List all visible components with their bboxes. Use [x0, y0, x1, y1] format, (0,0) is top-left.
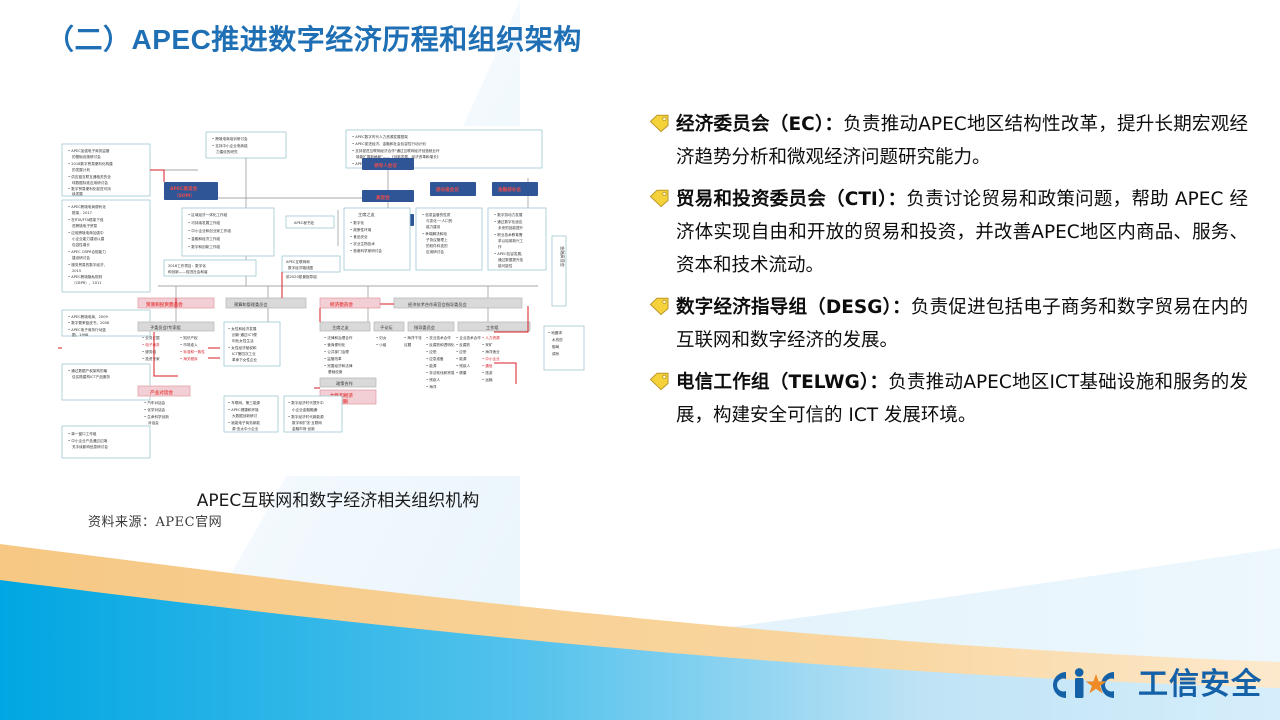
svg-text:的发展计划: 的发展计划 — [72, 167, 90, 172]
svg-text:与变化·一人口的: 与变化·一人口的 — [426, 218, 453, 223]
figure-caption: APEC互联网和数字经济相关组织机构 — [58, 486, 618, 511]
tag-icon — [648, 188, 670, 208]
svg-text:APEC互联网和: APEC互联网和 — [286, 259, 310, 264]
svg-text:• 法律和治理合作: • 法律和治理合作 — [324, 335, 353, 340]
list-item: 经济委员会（EC）：负责推动APEC地区结构性改革，提升长期宏观经济趋势分析和微… — [648, 108, 1248, 174]
svg-text:作: 作 — [498, 244, 502, 249]
svg-text:建设研讨会: 建设研讨会 — [72, 255, 90, 260]
tag-icon — [648, 113, 670, 133]
svg-text:进跨境电子贸易: 进跨境电子贸易 — [72, 223, 98, 228]
svg-text:• 2018数字贸易便利化构建: • 2018数字贸易便利化构建 — [68, 161, 113, 166]
svg-text:和创新——促进社会和谐: 和创新——促进社会和谐 — [168, 269, 208, 274]
svg-text:预算和管理委员会: 预算和管理委员会 — [234, 301, 268, 308]
svg-text:2018工作项目：数字化: 2018工作项目：数字化 — [168, 263, 206, 268]
svg-text:• 地震求: • 地震求 — [548, 330, 562, 335]
svg-text:• 应急准备: • 应急准备 — [426, 356, 444, 361]
svg-text:通过数据提升技: 通过数据提升技 — [498, 257, 524, 262]
svg-text:主席之友: 主席之友 — [358, 211, 375, 218]
svg-text:应用研讨会: 应用研讨会 — [426, 249, 444, 254]
svg-text:• 海关程序: • 海关程序 — [180, 356, 198, 361]
svg-text:• 跨境电商培训研讨会: • 跨境电商培训研讨会 — [212, 136, 248, 141]
svg-text:• 知识产权: • 知识产权 — [180, 335, 198, 340]
org-chart-canvas: .bx{fill:#ffffff;stroke:#9fc9d4;stroke-w… — [58, 126, 618, 476]
svg-text:求以培育新兴工: 求以培育新兴工 — [498, 238, 524, 243]
svg-text:• 生命科学创新: • 生命科学创新 — [144, 414, 169, 419]
svg-text:• 通过数据产权架构的最: • 通过数据产权架构的最 — [68, 368, 108, 373]
page-title-text: （二）APEC推进数字经济历程和组织架构 — [46, 18, 906, 62]
svg-text:子协议管理上: 子协议管理上 — [426, 237, 448, 242]
svg-text:经济委员会: 经济委员会 — [330, 301, 353, 308]
svg-text:政策合作: 政策合作 — [336, 380, 354, 387]
svg-text:• APEC CBPR合规能力: • APEC CBPR合规能力 — [68, 249, 106, 254]
cic-logo-icon — [1044, 664, 1136, 706]
svg-text:• 数字经济时代提升中: • 数字经济时代提升中 — [288, 400, 324, 405]
svg-text:主席之友: 主席之友 — [332, 324, 349, 331]
svg-text:• 赋能电子商务新能: • 赋能电子商务新能 — [228, 420, 260, 425]
brand-logo: 工信安全 — [1044, 664, 1262, 706]
svg-text:• APEC跨境电商便利化: • APEC跨境电商便利化 — [68, 204, 106, 209]
svg-text:• 运输: • 运输 — [482, 377, 493, 382]
svg-text:• 车联网、第三能源: • 车联网、第三能源 — [228, 400, 260, 405]
svg-text:• APEC包容发展、: • APEC包容发展、 — [494, 251, 525, 256]
svg-text:领导人会议: 领导人会议 — [374, 162, 397, 169]
svg-text:革命下女性企业: 革命下女性企业 — [232, 357, 258, 362]
svg-text:• 旅游: • 旅游 — [482, 370, 493, 375]
svg-text:（SOM）: （SOM） — [174, 193, 195, 199]
svg-text:• 通过数字化适应: • 通过数字化适应 — [494, 219, 523, 224]
svg-text:金融部长会: 金融部长会 — [497, 186, 521, 193]
svg-text:佳实践建构ICT产品服务: 佳实践建构ICT产品服务 — [72, 374, 111, 379]
list-item-term: 电信工作组（TELWG）： — [676, 372, 888, 393]
svg-text:议题: 议题 — [404, 342, 412, 347]
svg-text:• 人力资源: • 人力资源 — [482, 335, 500, 340]
svg-text:御局: 御局 — [552, 344, 560, 349]
svg-text:• 企业技术合作: • 企业技术合作 — [456, 335, 481, 340]
svg-text:• 投资专家: • 投资专家 — [142, 356, 160, 361]
svg-text:水的防: 水的防 — [552, 337, 563, 342]
svg-text:调系: 调系 — [552, 351, 560, 356]
svg-text:的软件科技的: 的软件科技的 — [426, 243, 448, 248]
svg-text:• 女性和经济发展: • 女性和经济发展 — [228, 326, 257, 331]
svg-text:数字经济路线图: 数字经济路线图 — [288, 265, 314, 270]
svg-text:• 可持续发展工作组: • 可持续发展工作组 — [188, 220, 220, 225]
svg-text:• 中小企业: • 中小企业 — [482, 356, 500, 361]
svg-text:• 数字化: • 数字化 — [350, 220, 364, 225]
svg-text:• 通信: • 通信 — [482, 363, 493, 368]
svg-text:• APEC数字时代人力资源发展框架: • APEC数字时代人力资源发展框架 — [352, 134, 408, 139]
svg-text:续发展: 续发展 — [72, 191, 83, 196]
svg-text:• 完善经济和法律: • 完善经济和法律 — [324, 363, 353, 368]
svg-text:• 反腐败和透明化: • 反腐败和透明化 — [426, 342, 455, 347]
svg-text:• 区域经济一体化工作组: • 区域经济一体化工作组 — [188, 212, 228, 217]
svg-text:框架，2017: 框架，2017 — [72, 210, 92, 215]
list-item: 电信工作组（TELWG）：负责推动APEC地区ICT基础设施和服务的发展，构建安… — [648, 366, 1248, 432]
svg-text:• 残疾人: • 残疾人 — [456, 363, 470, 368]
svg-text:• 职业技术教育需: • 职业技术教育需 — [494, 232, 523, 237]
svg-text:• 首席科学家研讨会: • 首席科学家研讨会 — [350, 248, 382, 253]
svg-text:• 争端解决和电: • 争端解决和电 — [422, 231, 447, 236]
svg-text:（CBPR），2011: （CBPR），2011 — [72, 280, 102, 285]
list-item-text: 电信工作组（TELWG）：负责推动APEC地区ICT基础设施和服务的发展，构建安… — [676, 366, 1248, 432]
svg-text:• 食品安全: • 食品安全 — [350, 234, 368, 239]
svg-text:• 农业技术合作: • 农业技术合作 — [426, 335, 451, 340]
slide-root: （二）APEC推进数字经济历程和组织架构 .bx{fill:#ffffff;st… — [0, 0, 1280, 720]
svg-text:2015: 2015 — [72, 269, 81, 273]
svg-text:APEC高官会: APEC高官会 — [170, 185, 198, 192]
svg-text:• 市场准入: • 市场准入 — [180, 342, 198, 347]
svg-text:经济技术合作高官会指导委员会: 经济技术合作高官会指导委员会 — [408, 301, 467, 308]
svg-text:• APEC电子商务行动蓝: • APEC电子商务行动蓝 — [68, 327, 106, 332]
svg-text:创新·通过ICT便: 创新·通过ICT便 — [232, 332, 257, 337]
svg-text:子委员会/专家组: 子委员会/专家组 — [150, 324, 181, 331]
svg-text:APEC秘书处: APEC秘书处 — [294, 220, 315, 225]
svg-text:• 采矿: • 采矿 — [482, 342, 493, 347]
svg-text:• 能源: • 能源 — [426, 363, 437, 368]
svg-text:基础设施: 基础设施 — [328, 369, 343, 374]
svg-text:小企业能力建设以建: 小企业能力建设以建 — [72, 236, 105, 241]
svg-text:• 应用跨境电商加强中: • 应用跨境电商加强中 — [68, 230, 104, 235]
svg-text:• 业务正据: • 业务正据 — [142, 335, 160, 340]
bullet-list: 经济委员会（EC）：负责推动APEC地区结构性改革，提升长期宏观经济趋势分析和微… — [648, 108, 1248, 441]
tag-icon — [648, 296, 670, 316]
svg-text:• 公共部门治理: • 公共部门治理 — [324, 349, 349, 354]
svg-text:利化女性生活: 利化女性生活 — [232, 338, 254, 343]
svg-text:• APEC加强电子商务监管: • APEC加强电子商务监管 — [68, 148, 110, 153]
svg-text:• 数字经济时代新能源: • 数字经济时代新能源 — [288, 414, 324, 419]
svg-text:工作组: 工作组 — [486, 324, 499, 331]
svg-text:• 监管改革: • 监管改革 — [324, 356, 342, 361]
svg-text:• 妇女: • 妇女 — [376, 335, 387, 340]
svg-text:• 小组: • 小组 — [376, 342, 387, 347]
list-item: 数字经济指导组（DESG）：负责促进包括电子商务和数字贸易在内的互联网和数字经济… — [648, 291, 1248, 357]
svg-text:• APEC健康和环境: • APEC健康和环境 — [228, 407, 259, 412]
svg-text:• 健康: • 健康 — [456, 370, 467, 375]
svg-text:贸易和投资委员会: 贸易和投资委员会 — [146, 301, 183, 308]
svg-text:• 能源: • 能源 — [456, 356, 467, 361]
svg-text:• 应恐: • 应恐 — [426, 349, 437, 354]
tag-icon — [648, 371, 670, 391]
svg-text:未来的技能提升: 未来的技能提升 — [498, 225, 524, 230]
svg-text:源·亚太中小企业: 源·亚太中小企业 — [232, 426, 259, 431]
svg-text:• 数字和创新工作组: • 数字和创新工作组 — [188, 244, 220, 249]
svg-text:• 中小企业产品通过边境: • 中小企业产品通过边境 — [68, 438, 108, 443]
list-item-text: 经济委员会（EC）：负责推动APEC地区结构性改革，提升长期宏观经济趋势分析和微… — [676, 108, 1248, 174]
svg-text:• 非法砍伐和贸易: • 非法砍伐和贸易 — [426, 370, 455, 375]
svg-text:• 女性经济赋权和: • 女性经济赋权和 — [228, 345, 257, 350]
svg-text:小企业金融融通·: 小企业金融融通· — [292, 407, 318, 412]
svg-text:• 数字劳动力发展: • 数字劳动力发展 — [494, 212, 523, 217]
svg-text:• 供应链互联互通相关的全: • 供应链互联互通相关的全 — [68, 174, 111, 179]
list-item-term: 经济委员会（EC）： — [676, 114, 843, 135]
svg-text:金融市场·创新: 金融市场·创新 — [292, 426, 315, 431]
list-item-text: 数字经济指导组（DESG）：负责促进包括电子商务和数字贸易在内的互联网和数字经济… — [676, 291, 1248, 357]
figure-source: 资料来源：APEC官网 — [88, 511, 222, 530]
svg-text:能可能性: 能可能性 — [498, 263, 513, 268]
org-chart-figure: .bx{fill:#ffffff;stroke:#9fc9d4;stroke-w… — [58, 126, 618, 476]
svg-text:• 数字贸易便利化促进可持: • 数字贸易便利化促进可持 — [68, 186, 111, 191]
svg-text:力建设的研究: 力建设的研究 — [216, 149, 238, 154]
svg-text:• 服务贸易的数字经济，: • 服务贸易的数字经济， — [68, 262, 107, 267]
svg-text:• 海洋干流: • 海洋干流 — [404, 335, 422, 340]
svg-text:• 支持中小企业电商能: • 支持中小企业电商能 — [212, 143, 248, 148]
svg-text:数字和扩张·互联网: 数字和扩张·互联网 — [292, 420, 322, 425]
svg-text:球数据标准应用研讨会: 球数据标准应用研讨会 — [72, 180, 108, 185]
svg-text:• 金融和经济工作组: • 金融和经济工作组 — [188, 236, 220, 241]
svg-text:• 中小企业和创业家工作组: • 中小企业和创业家工作组 — [188, 228, 231, 233]
svg-text:部长级会议: 部长级会议 — [436, 186, 459, 193]
svg-text:前2020愿景指导组: 前2020愿景指导组 — [286, 274, 317, 279]
svg-text:• 残疾人: • 残疾人 — [426, 377, 440, 382]
svg-text:金融高官会: 金融高官会 — [559, 246, 566, 268]
svg-text:对话会: 对话会 — [148, 420, 159, 425]
svg-text:• 支持促进互联网经济合作"通过互联网经济创造就业环: • 支持促进互联网经济合作"通过互联网经济创造就业环 — [352, 148, 440, 153]
svg-text:图，1998: 图，1998 — [72, 333, 89, 337]
svg-text:的基础设施研讨会: 的基础设施研讨会 — [72, 154, 101, 159]
svg-text:关手续影响信息研讨会: 关手续影响信息研讨会 — [72, 444, 108, 449]
svg-text:• 海洋: • 海洋 — [426, 384, 437, 389]
svg-text:• 单一窗口工作组: • 单一窗口工作组 — [68, 431, 97, 436]
svg-text:• 农业生物技术: • 农业生物技术 — [350, 241, 375, 246]
svg-text:• 营商便利化: • 营商便利化 — [324, 342, 346, 347]
svg-text:指导委员会: 指导委员会 — [414, 324, 436, 331]
svg-text:大数据创新研讨: 大数据创新研讨 — [232, 413, 258, 418]
svg-text:包容性增长: 包容性增长 — [72, 242, 90, 247]
svg-text:• 标准和一致性: • 标准和一致性 — [180, 349, 205, 354]
svg-text:ICT第四次工业: ICT第四次工业 — [232, 351, 256, 356]
svg-text:产业对话会: 产业对话会 — [150, 389, 173, 396]
svg-text:• APEC跨境隐私规则: • APEC跨境隐私规则 — [68, 274, 103, 279]
svg-text:• APEC跨境电商，2009: • APEC跨境电商，2009 — [68, 314, 108, 319]
svg-text:• 化学对话会: • 化学对话会 — [144, 407, 166, 412]
svg-text:能力建设: 能力建设 — [426, 224, 441, 229]
list-item: 贸易和投资委员会（CTI）：负责讨论贸易和政策问题，帮助 APEC 经济体实现自… — [648, 183, 1248, 282]
svg-text:• 反腐败: • 反腐败 — [456, 342, 470, 347]
list-item-term: 贸易和投资委员会（CTI）： — [676, 189, 906, 210]
svg-text:高官会: 高官会 — [376, 194, 390, 201]
list-item-term: 数字经济指导组（DESG）： — [676, 297, 911, 318]
svg-text:• 海洋渔业: • 海洋渔业 — [482, 349, 500, 354]
svg-text:• APEC促进经济、金融和社会包容性行动计划: • APEC促进经济、金融和社会包容性行动计划 — [352, 141, 426, 146]
svg-text:• 电子商务: • 电子商务 — [142, 342, 160, 347]
svg-text:子论坛: 子论坛 — [380, 324, 393, 331]
svg-text:• 汽车对话会: • 汽车对话会 — [144, 400, 166, 405]
svg-text:• 信息监管的性质: • 信息监管的性质 — [422, 212, 451, 217]
svg-text:• 应恐: • 应恐 — [456, 349, 467, 354]
page-title: （二）APEC推进数字经济历程和组织架构 — [46, 18, 906, 62]
svg-text:• 政策性环境: • 政策性环境 — [350, 227, 372, 232]
list-item-text: 贸易和投资委员会（CTI）：负责讨论贸易和政策问题，帮助 APEC 经济体实现自… — [676, 183, 1248, 282]
svg-text:• 在RTA/FTA框架下促: • 在RTA/FTA框架下促 — [68, 217, 104, 222]
svg-text:• 数字繁荣蓝皮书，2008: • 数字繁荣蓝皮书，2008 — [68, 320, 110, 325]
logo-text: 工信安全 — [1138, 664, 1262, 706]
